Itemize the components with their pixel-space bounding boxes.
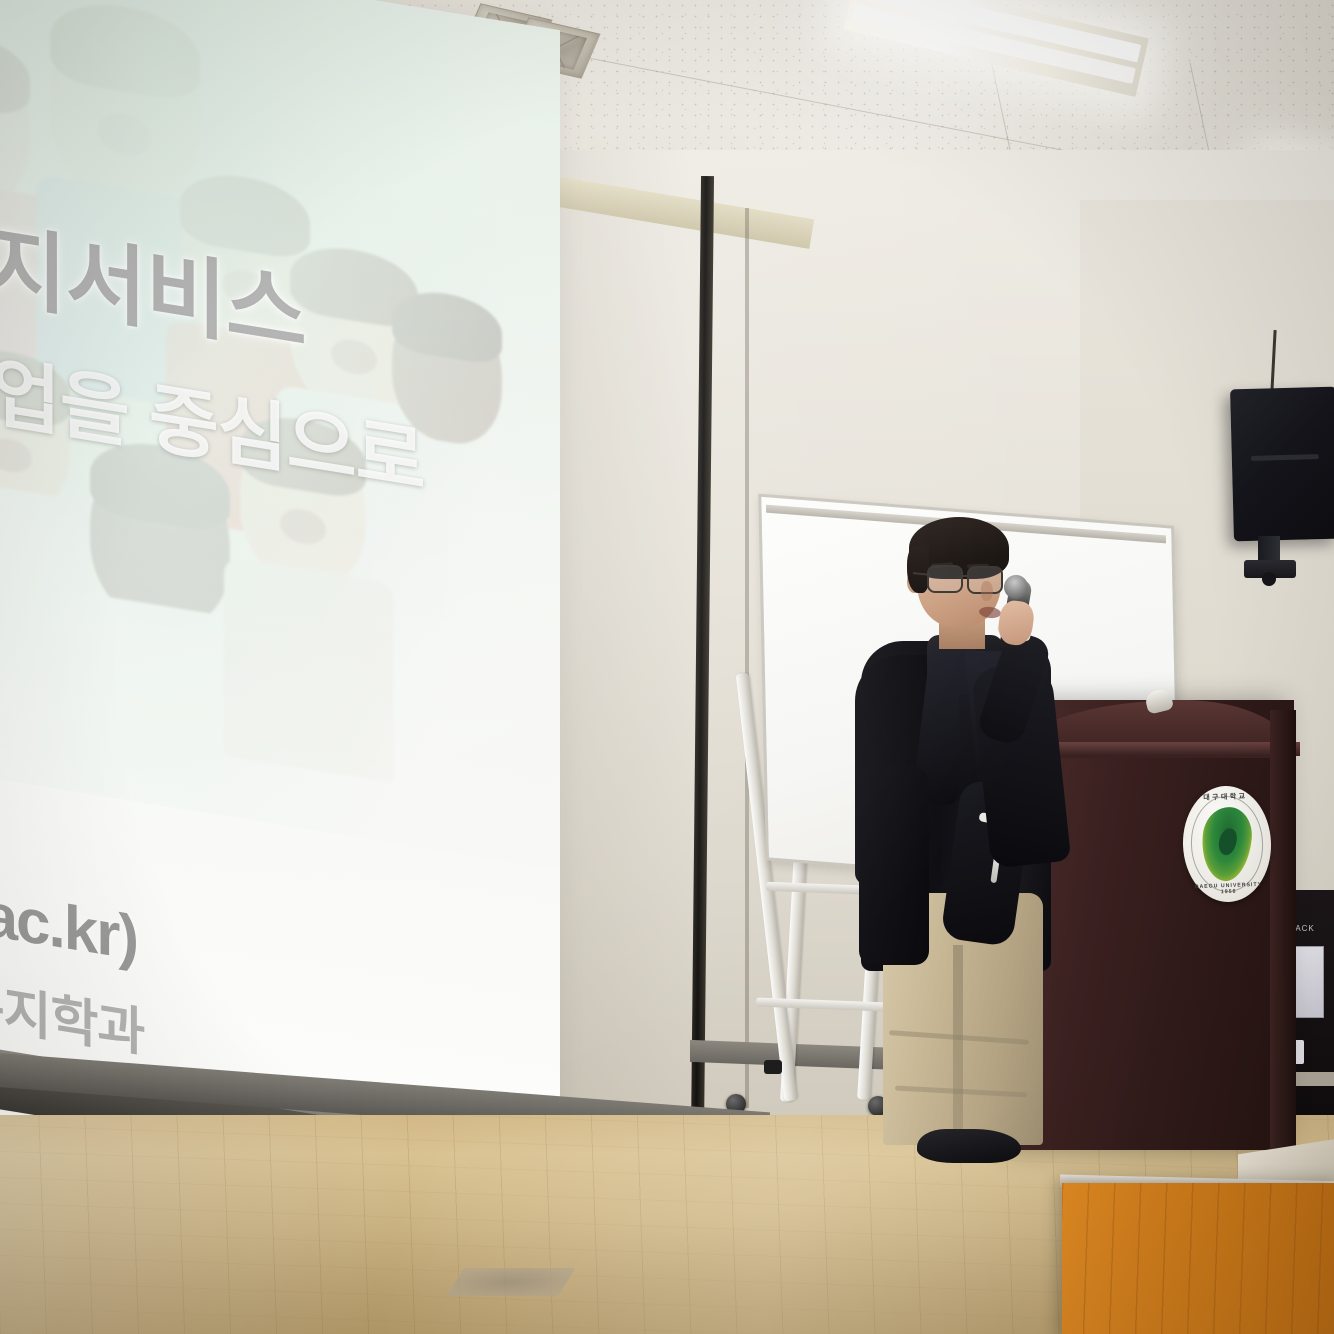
eyeglasses-bridge — [958, 575, 969, 577]
wall-seam-light — [745, 208, 749, 1108]
pa-speaker — [1230, 387, 1334, 542]
emblem-leaf-inner — [1216, 826, 1239, 856]
foreground-wood-grain — [1062, 1183, 1334, 1334]
pa-speaker-grill — [1251, 454, 1319, 461]
emblem-korean-text: 대구대학교 — [1181, 790, 1269, 803]
presenter-nose — [981, 581, 993, 601]
presenter-left-arm — [859, 765, 929, 965]
easel-foot-cap — [764, 1060, 782, 1074]
pa-speaker-mount-knob — [1262, 572, 1276, 586]
trouser-seam — [953, 945, 963, 1145]
projection-screen: 복지서비스 사업을 중심으로 등 na.ac.kr) 회복지학과 — [0, 0, 560, 1210]
floor-scuff-patch — [446, 1268, 575, 1296]
presenter — [855, 515, 1075, 1155]
lecture-hall-photo: 복지서비스 사업을 중심으로 등 na.ac.kr) 회복지학과 AV RACK — [0, 0, 1334, 1334]
presenter-sideburn — [907, 545, 929, 593]
presenter-shoe — [917, 1129, 1021, 1163]
eyeglasses-lens-left — [927, 565, 963, 593]
lectern-side-panel — [1270, 710, 1296, 1150]
